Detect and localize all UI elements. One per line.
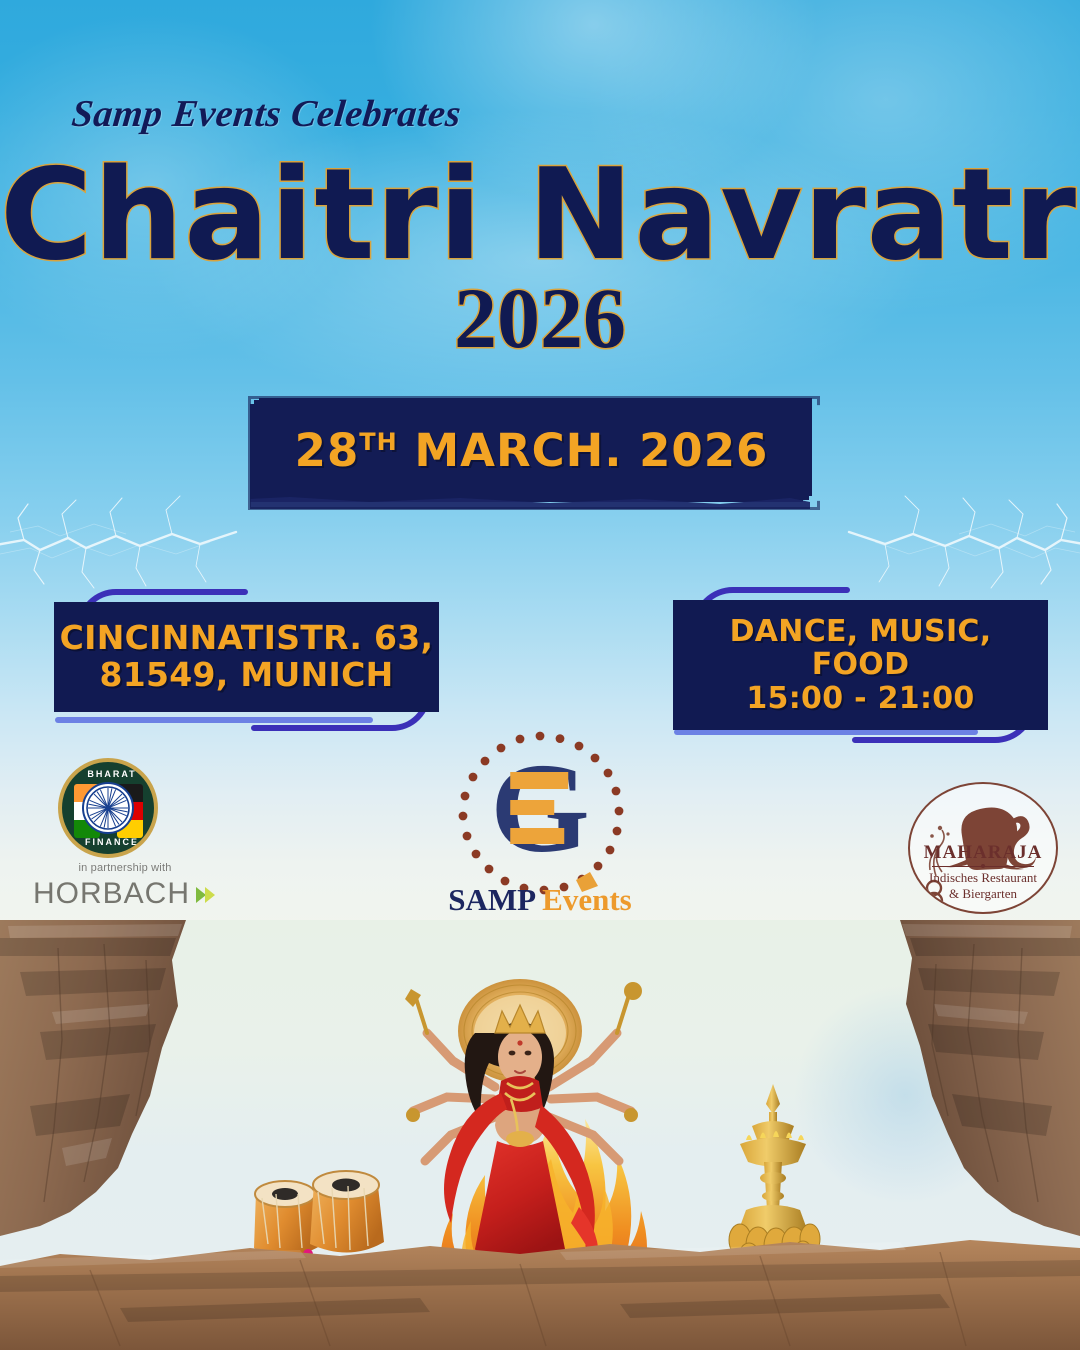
- bharat-word-top: BHARAT: [62, 769, 158, 779]
- kicker-text: Samp Events Celebrates: [70, 92, 464, 136]
- horbach-text: HORBACH: [33, 877, 190, 911]
- venue-text: CINCINNATISTR. 63, 81549, MUNICH: [60, 620, 434, 694]
- date-banner: 28TH MARCH. 2026: [254, 400, 809, 500]
- foreground-ledge: [0, 1230, 1080, 1350]
- samp-e-bars-icon: [510, 770, 572, 846]
- page-title: Chaitri Navratri: [0, 152, 1080, 278]
- sponsor-logo-bharat-finance: BHARAT FINANCE in partnership with HORBA…: [40, 758, 210, 918]
- program-line-2: FOOD: [812, 647, 910, 682]
- samp-wordmark: SAMP Events: [432, 882, 648, 918]
- samp-word-b: Events: [542, 882, 632, 917]
- bharat-word-bottom: FINANCE: [62, 837, 158, 847]
- venue-line-2: 81549, MUNICH: [99, 655, 393, 694]
- program-line-3: 15:00 - 21:00: [746, 681, 974, 716]
- maharaja-wordmark: MAHARAJA: [908, 842, 1058, 864]
- title-year: 2026: [0, 275, 1080, 361]
- program-line-1: DANCE, MUSIC,: [730, 614, 992, 649]
- date-rest: MARCH. 2026: [398, 424, 769, 477]
- date-day: 28: [295, 424, 360, 477]
- program-text: DANCE, MUSIC, FOOD 15:00 - 21:00: [730, 615, 992, 716]
- sponsor-logo-maharaja: MAHARAJA Indisches Restaurant & Biergart…: [908, 782, 1058, 922]
- maharaja-sub-2: & Biergarten: [908, 886, 1058, 902]
- bharat-finance-emblem: BHARAT FINANCE: [58, 758, 158, 858]
- ashoka-chakra-icon: [82, 782, 134, 834]
- horbach-wordmark: HORBACH: [40, 877, 210, 911]
- venue-info-box: CINCINNATISTR. 63, 81549, MUNICH: [40, 580, 460, 740]
- partnership-label: in partnership with: [40, 862, 210, 874]
- date-ordinal: TH: [359, 428, 397, 456]
- program-info-box: DANCE, MUSIC, FOOD 15:00 - 21:00: [655, 580, 1065, 750]
- samp-word-a: SAMP: [448, 882, 534, 917]
- event-poster: Samp Events Celebrates Chaitri Navratri …: [0, 0, 1080, 1350]
- venue-line-1: CINCINNATISTR. 63,: [60, 618, 434, 657]
- horbach-chevron-icon: [195, 882, 217, 906]
- sponsor-logo-samp-events: G SAMP Events: [432, 730, 648, 920]
- date-text: 28TH MARCH. 2026: [295, 424, 769, 477]
- canyon-scene: [0, 920, 1080, 1350]
- venue-plate: CINCINNATISTR. 63, 81549, MUNICH: [54, 602, 439, 712]
- maharaja-sub-1: Indisches Restaurant: [908, 870, 1058, 886]
- maharaja-divider: [932, 866, 1034, 867]
- program-plate: DANCE, MUSIC, FOOD 15:00 - 21:00: [673, 600, 1048, 730]
